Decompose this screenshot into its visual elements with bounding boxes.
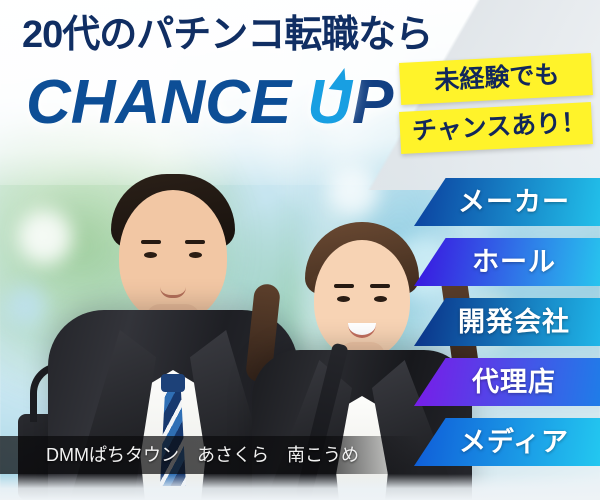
female-eye-right: [374, 296, 387, 302]
category-label-development: 開発会社: [444, 309, 570, 336]
category-label-media: メディア: [445, 429, 569, 456]
logo-up-u-arrow-icon: U: [307, 72, 352, 134]
category-label-hall: ホール: [458, 249, 556, 276]
category-button-media[interactable]: メディア: [414, 418, 600, 466]
credit-bar: DMMぱちタウン あさくら 南こうめ: [0, 436, 420, 474]
female-brow-right: [370, 284, 390, 288]
female-mouth: [348, 323, 376, 338]
female-brow-left: [334, 284, 354, 288]
male-face: [119, 190, 227, 322]
male-mouth: [160, 287, 186, 298]
bokeh-light-2: [6, 286, 46, 326]
brand-logo: CHANCEUP: [26, 72, 393, 134]
male-brow-left: [141, 240, 161, 244]
category-button-agency[interactable]: 代理店: [414, 358, 600, 406]
logo-up-p: P: [352, 68, 393, 137]
badge-line-2: チャンスあり！: [399, 102, 593, 154]
category-menu: メーカー ホール 開発会社 代理店 メディア: [414, 178, 600, 478]
category-button-maker[interactable]: メーカー: [414, 178, 600, 226]
category-label-agency: 代理店: [458, 369, 556, 396]
logo-chance: CHANCE: [26, 68, 291, 137]
male-brow-right: [185, 240, 205, 244]
male-eye-left: [144, 252, 157, 258]
male-tie-knot: [161, 374, 185, 392]
female-face: [314, 240, 410, 358]
category-label-maker: メーカー: [444, 189, 570, 216]
category-button-hall[interactable]: ホール: [414, 238, 600, 286]
badge-line-1: 未経験でも: [399, 53, 593, 105]
female-eye-left: [337, 296, 350, 302]
highlight-badge: 未経験でも チャンスあり！: [400, 58, 592, 149]
credit-text: DMMぱちタウン あさくら 南こうめ: [0, 446, 359, 464]
category-button-development[interactable]: 開発会社: [414, 298, 600, 346]
headline-kicker: 20代のパチンコ転職なら: [22, 16, 432, 54]
male-eye-right: [189, 252, 202, 258]
recruitment-banner: 20代のパチンコ転職なら CHANCEUP 未経験でも チャンスあり！ メーカー…: [0, 0, 600, 500]
bottom-fade: [0, 474, 600, 500]
